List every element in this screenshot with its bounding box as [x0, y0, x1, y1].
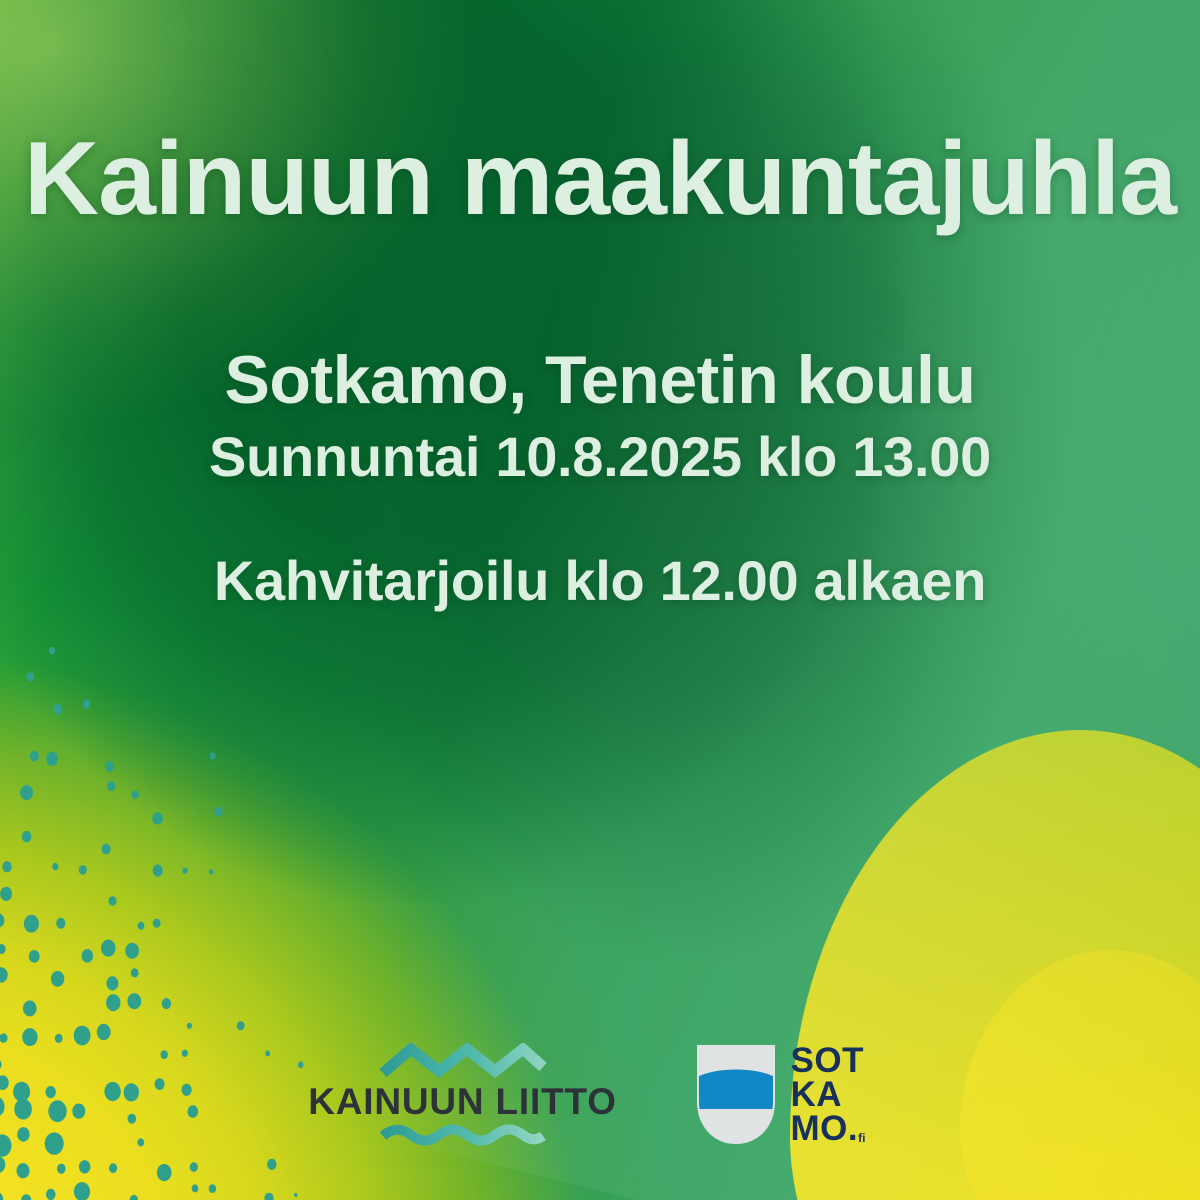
kainuun-liitto-logo: KAINUUN LIITTO	[335, 1043, 591, 1148]
poster-canvas: Kainuun maakuntajuhla Sotkamo, Tenetin k…	[0, 0, 1200, 1200]
logo-row: KAINUUN LIITTO	[0, 1020, 1200, 1170]
sotkamo-line-3: MO.fi	[791, 1112, 866, 1146]
page-title: Kainuun maakuntajuhla	[0, 126, 1200, 232]
sotkamo-wordmark: SOT KA MO.fi	[791, 1044, 866, 1147]
venue-heading: Sotkamo, Tenetin koulu	[0, 345, 1200, 416]
sotkamo-line-3-text: MO.	[791, 1109, 859, 1148]
sotkamo-logo: SOT KA MO.fi	[695, 1043, 866, 1147]
sotkamo-line-1: SOT	[791, 1044, 866, 1078]
sotkamo-coat-of-arms-shield-icon	[695, 1043, 777, 1147]
mountain-zigzag-icon	[379, 1043, 547, 1079]
kainuun-liitto-wordmark: KAINUUN LIITTO	[308, 1083, 617, 1120]
datetime-text: Sunnuntai 10.8.2025 klo 13.00	[0, 428, 1200, 487]
coffee-service-text: Kahvitarjoilu klo 12.00 alkaen	[0, 552, 1200, 611]
sotkamo-line-2: KA	[791, 1078, 866, 1112]
water-wave-icon	[379, 1122, 547, 1148]
sotkamo-tld: fi	[858, 1131, 865, 1145]
